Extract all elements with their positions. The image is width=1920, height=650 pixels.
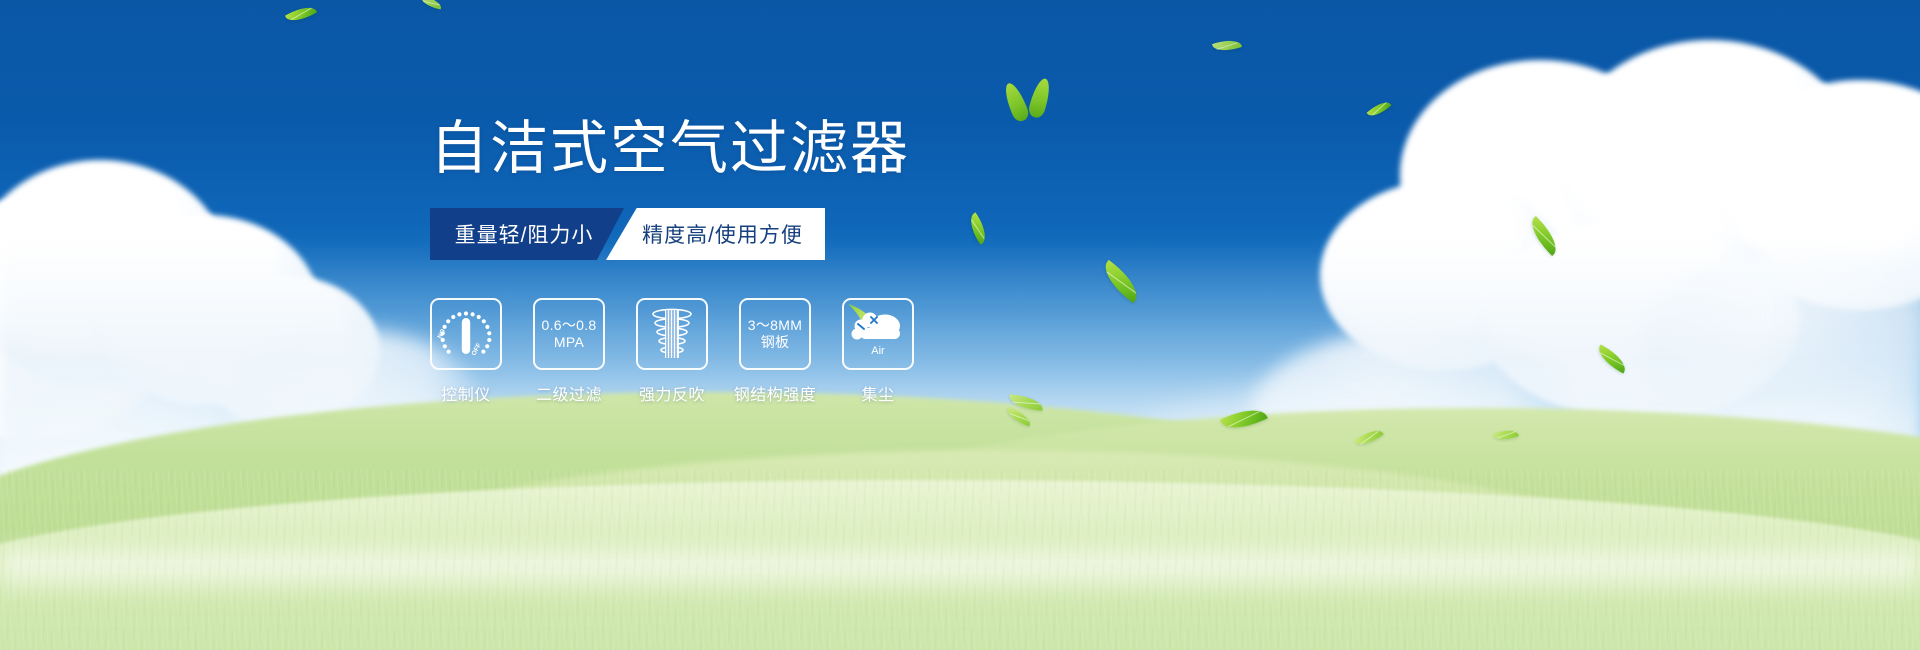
feature-box: 3～8MM 钢板 [739, 298, 811, 370]
badge-secondary: 精度高/使用方便 [606, 208, 825, 260]
floating-leaf-icon [285, 2, 317, 27]
pressure-unit: MPA [541, 334, 596, 351]
gauge-dial-icon: NO OFF [436, 307, 496, 361]
floating-leaf-icon [1367, 97, 1392, 120]
feature-box [636, 298, 708, 370]
feature-item-dust-collection[interactable]: Air 集尘 [842, 298, 914, 405]
feature-item-steel-strength[interactable]: 3～8MM 钢板 钢结构强度 [739, 298, 811, 405]
filter-coil-icon [646, 306, 698, 362]
page-title: 自洁式空气过滤器 [430, 120, 1070, 178]
gauge-on-label: NO [437, 328, 448, 340]
badge-primary: 重量轻/阻力小 [430, 208, 624, 260]
feature-box: 0.6～0.8 MPA [533, 298, 605, 370]
steel-thickness: 3～8MM [748, 317, 802, 334]
feature-label: 集尘 [842, 381, 914, 405]
leaf-shape [1027, 77, 1053, 120]
feature-item-backblow[interactable]: 强力反吹 [636, 298, 708, 405]
banner-content: 自洁式空气过滤器 重量轻/阻力小 精度高/使用方便 [430, 120, 1070, 405]
floating-leaf-icon [1212, 36, 1242, 54]
feature-box: NO OFF [430, 298, 502, 370]
feature-label: 二级过滤 [533, 381, 605, 405]
tagline-badges: 重量轻/阻力小 精度高/使用方便 [430, 208, 825, 260]
steel-material: 钢板 [748, 334, 802, 351]
feature-label: 钢结构强度 [725, 381, 825, 405]
feature-item-filtration[interactable]: 0.6～0.8 MPA 二级过滤 [533, 298, 605, 405]
air-label: Air [871, 345, 885, 357]
feature-label: 控制仪 [430, 381, 502, 405]
steel-plate-text-icon: 3～8MM 钢板 [748, 317, 802, 351]
gauge-off-label: OFF [471, 342, 483, 357]
two-leaves-icon [1002, 76, 1062, 124]
feature-label: 强力反吹 [636, 381, 708, 405]
feature-box: Air [842, 298, 914, 370]
floating-leaf-icon [419, 0, 443, 10]
hero-banner: 自洁式空气过滤器 重量轻/阻力小 精度高/使用方便 [0, 0, 1920, 650]
air-cloud-icon: Air [846, 304, 910, 364]
pressure-text-icon: 0.6～0.8 MPA [541, 317, 596, 351]
page-title-text: 自洁式空气过滤器 [430, 116, 910, 181]
feature-icon-row: NO OFF 控制仪 0.6～0.8 MPA 二级过滤 [430, 298, 1070, 405]
grass-texture [0, 470, 1920, 650]
leaf-shape [1001, 80, 1031, 123]
pressure-value: 0.6～0.8 [541, 317, 596, 334]
feature-item-controller[interactable]: NO OFF 控制仪 [430, 298, 502, 405]
